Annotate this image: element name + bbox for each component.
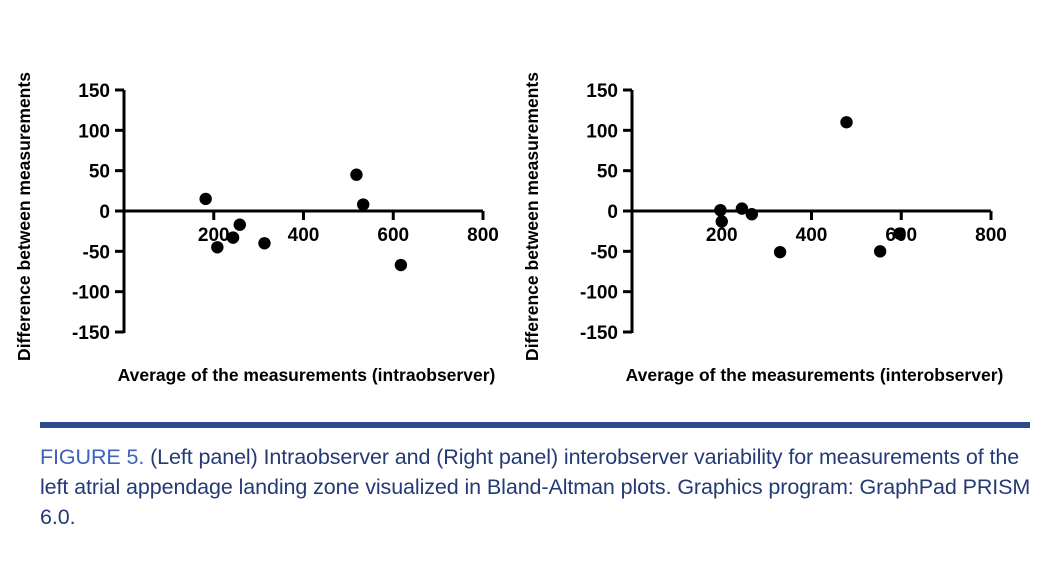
data-point bbox=[716, 215, 728, 227]
figure-caption-body: (Left panel) Intraobserver and (Right pa… bbox=[40, 445, 1030, 529]
figure-5-container: 150100500-50-100-150200400600800Differen… bbox=[0, 0, 1048, 568]
y-tick-label: -150 bbox=[72, 323, 110, 344]
x-tick-label: 800 bbox=[975, 225, 1007, 246]
figure-number-label: FIGURE 5. bbox=[40, 445, 144, 469]
figure-panels: 150100500-50-100-150200400600800Differen… bbox=[0, 0, 1048, 412]
x-axis-title: Average of the measurements (intraobserv… bbox=[118, 365, 496, 385]
data-point bbox=[199, 193, 211, 205]
data-point bbox=[227, 231, 239, 243]
figure-caption-area: FIGURE 5. (Left panel) Intraobserver and… bbox=[0, 412, 1048, 568]
x-tick-label: 800 bbox=[467, 225, 499, 246]
scatter-plot-interobserver: 150100500-50-100-150200400600800Differen… bbox=[508, 0, 1028, 412]
data-point bbox=[746, 208, 758, 220]
data-point bbox=[258, 237, 270, 249]
y-axis-title: Difference between measurements bbox=[522, 72, 542, 361]
y-tick-label: 100 bbox=[78, 121, 110, 142]
data-point bbox=[395, 259, 407, 271]
y-tick-label: 150 bbox=[78, 81, 110, 102]
data-point bbox=[211, 241, 223, 253]
chart-panel-left: 150100500-50-100-150200400600800Differen… bbox=[0, 0, 520, 412]
data-point bbox=[714, 204, 726, 216]
chart-panel-right: 150100500-50-100-150200400600800Differen… bbox=[508, 0, 1028, 412]
y-tick-label: 0 bbox=[607, 202, 618, 223]
x-tick-label: 400 bbox=[288, 225, 320, 246]
data-point bbox=[893, 227, 905, 239]
figure-caption: FIGURE 5. (Left panel) Intraobserver and… bbox=[40, 442, 1035, 532]
caption-divider-rule bbox=[40, 422, 1030, 428]
y-tick-label: 50 bbox=[597, 162, 618, 183]
y-tick-label: -50 bbox=[591, 242, 618, 263]
data-point bbox=[874, 245, 886, 257]
data-point bbox=[357, 198, 369, 210]
y-axis-title: Difference between measurements bbox=[14, 72, 34, 361]
x-tick-label: 200 bbox=[706, 225, 738, 246]
y-tick-label: 150 bbox=[586, 81, 618, 102]
data-point bbox=[840, 116, 852, 128]
y-tick-label: -100 bbox=[580, 283, 618, 304]
scatter-plot-intraobserver: 150100500-50-100-150200400600800Differen… bbox=[0, 0, 520, 412]
data-point bbox=[350, 169, 362, 181]
y-tick-label: -150 bbox=[580, 323, 618, 344]
x-tick-label: 400 bbox=[796, 225, 828, 246]
y-tick-label: 0 bbox=[99, 202, 110, 223]
x-tick-label: 600 bbox=[377, 225, 409, 246]
y-tick-label: -50 bbox=[83, 242, 110, 263]
data-point bbox=[774, 246, 786, 258]
y-tick-label: 100 bbox=[586, 121, 618, 142]
y-tick-label: -100 bbox=[72, 283, 110, 304]
x-axis-title: Average of the measurements (interobserv… bbox=[626, 365, 1004, 385]
y-tick-label: 50 bbox=[89, 162, 110, 183]
data-point bbox=[234, 219, 246, 231]
